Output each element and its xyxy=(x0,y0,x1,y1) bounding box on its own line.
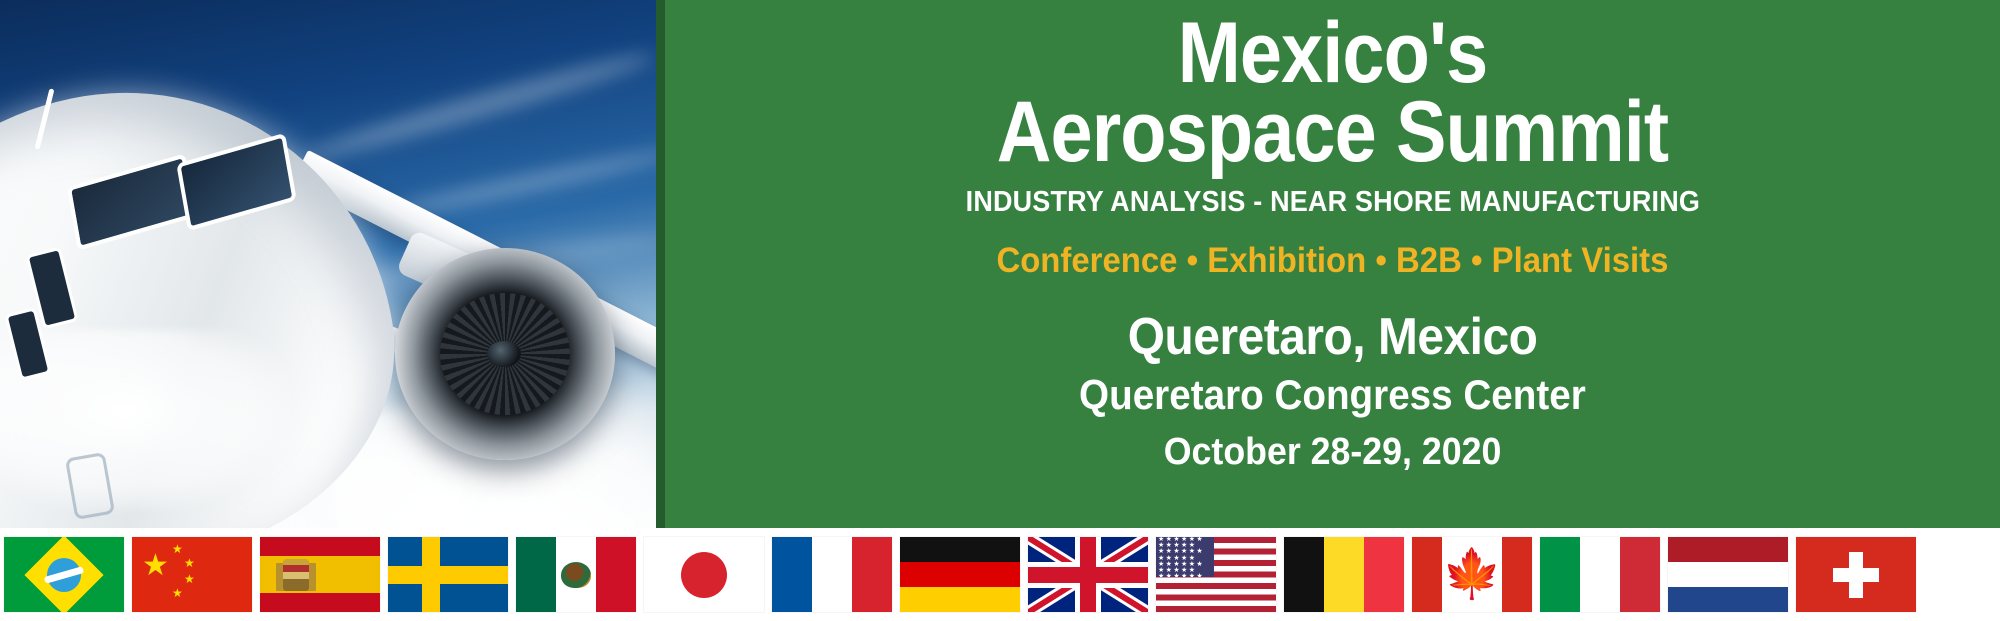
canada-red-band xyxy=(1502,537,1532,612)
uk-cross-red-horizontal xyxy=(1028,567,1148,583)
japan-sun-disc xyxy=(681,552,727,598)
country-flag-strip: ★ ★ ★ ★ ★ xyxy=(0,528,2000,621)
swiss-cross-horizontal xyxy=(1833,568,1879,582)
venue-place: Queretaro Congress Center xyxy=(1079,371,1586,419)
china-star-small: ★ xyxy=(184,573,195,585)
flag-netherlands xyxy=(1668,537,1788,612)
sweden-cross-horizontal xyxy=(388,566,508,584)
airplane-photo xyxy=(0,0,656,528)
event-title-line-2: Aerospace Summit xyxy=(745,93,1920,172)
china-star-large: ★ xyxy=(142,551,169,581)
spain-red-band xyxy=(260,593,380,612)
mexico-eagle-emblem xyxy=(561,562,591,588)
mexico-green-band xyxy=(516,537,556,612)
spain-red-band xyxy=(260,537,380,556)
flag-canada: 🍁 xyxy=(1412,537,1532,612)
sweden-cross-vertical xyxy=(422,537,440,612)
flag-germany xyxy=(900,537,1020,612)
banner-top-area: Mexico's Aerospace Summit INDUSTRY ANALY… xyxy=(0,0,2000,528)
cloud-wisp xyxy=(304,46,656,166)
flag-italy xyxy=(1540,537,1660,612)
venue-city: Queretaro, Mexico xyxy=(1128,307,1538,367)
event-title-line-1: Mexico's xyxy=(745,14,1920,93)
flag-france xyxy=(772,537,892,612)
event-tagline: Conference • Exhibition • B2B • Plant Vi… xyxy=(997,241,1669,281)
flag-sweden xyxy=(388,537,508,612)
china-star-small: ★ xyxy=(172,543,183,555)
event-title: Mexico's Aerospace Summit xyxy=(745,14,1920,172)
flag-switzerland xyxy=(1796,537,1916,612)
flag-spain xyxy=(260,537,380,612)
jet-engine-spinner xyxy=(487,341,521,367)
flag-japan xyxy=(644,537,764,612)
event-subtitle: INDUSTRY ANALYSIS - NEAR SHORE MANUFACTU… xyxy=(965,186,1699,219)
event-date: October 28-29, 2020 xyxy=(1164,431,1502,474)
canada-red-band xyxy=(1412,537,1442,612)
event-info-panel: Mexico's Aerospace Summit INDUSTRY ANALY… xyxy=(656,0,2000,528)
maple-leaf-icon: 🍁 xyxy=(1442,551,1502,599)
france-red-band xyxy=(852,537,892,612)
usa-star-row: ★★★★★★ xyxy=(1156,574,1214,577)
france-blue-band xyxy=(772,537,812,612)
flag-mexico xyxy=(516,537,636,612)
flag-brazil xyxy=(4,537,124,612)
china-star-small: ★ xyxy=(184,557,195,569)
mexico-red-band xyxy=(596,537,636,612)
china-star-small: ★ xyxy=(172,587,183,599)
flag-united-states: ★★★★★★ ★★★★★ ★★★★★★ ★★★★★ ★★★★★★ ★★★★★ ★… xyxy=(1156,537,1276,612)
flag-united-kingdom xyxy=(1028,537,1148,612)
flag-china: ★ ★ ★ ★ ★ xyxy=(132,537,252,612)
flag-belgium xyxy=(1284,537,1404,612)
event-banner: Mexico's Aerospace Summit INDUSTRY ANALY… xyxy=(0,0,2000,621)
spain-coat-of-arms xyxy=(283,559,309,591)
usa-canton: ★★★★★★ ★★★★★ ★★★★★★ ★★★★★ ★★★★★★ ★★★★★ ★… xyxy=(1156,537,1214,577)
